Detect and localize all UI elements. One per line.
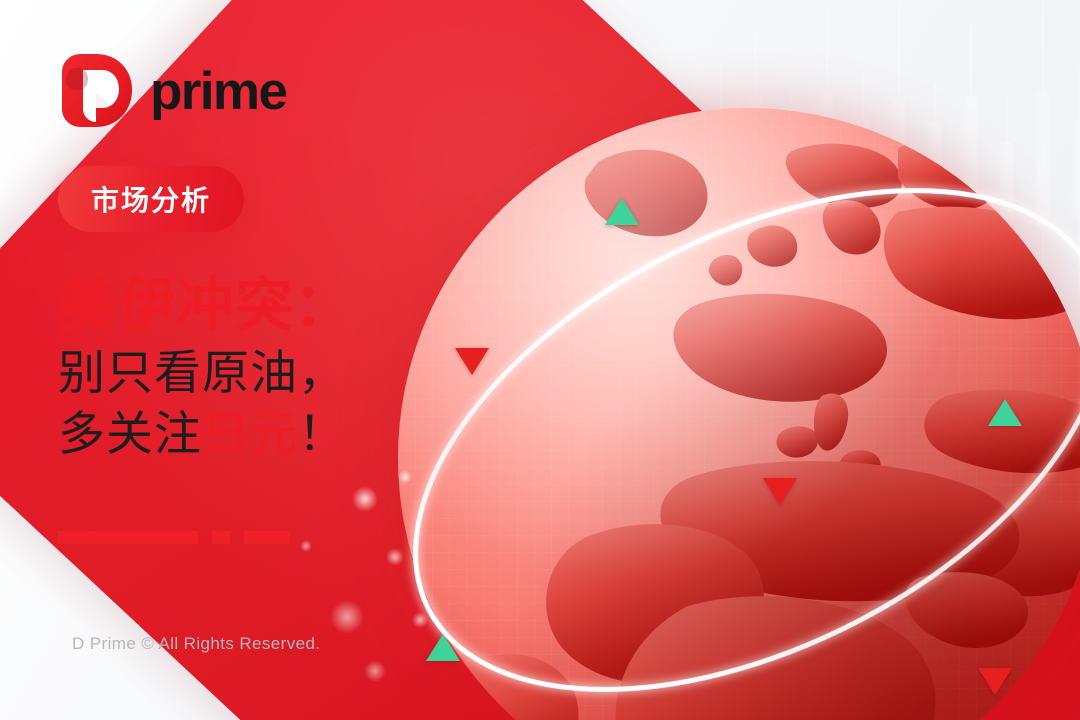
divider-segment-short [244, 531, 290, 544]
world-globe [398, 108, 1080, 720]
headline-line-1: 美伊冲突： [58, 272, 448, 340]
category-badge[interactable]: 市场分析 [58, 166, 244, 232]
headline-line-3: 多关注日元！ [58, 407, 448, 462]
copyright-text: D Prime © All Rights Reserved. [72, 634, 320, 654]
market-up-marker-2 [988, 399, 1022, 426]
headline-line-2: 别只看原油， [58, 346, 448, 401]
d-prime-logo-mark [56, 52, 134, 130]
logo-wordmark: prime [150, 65, 286, 118]
globe-landmass [398, 108, 1080, 720]
divider-segment-long [58, 531, 198, 544]
market-down-marker-2 [763, 478, 797, 505]
headline-line-3-prefix: 多关注 [58, 407, 202, 460]
market-up-marker-1 [605, 198, 639, 225]
divider-segment-dot [212, 531, 230, 544]
decorative-divider [58, 531, 290, 544]
logo-d-icon [56, 52, 134, 130]
headline-block: 美伊冲突： 别只看原油， 多关注日元！ [58, 272, 448, 462]
headline-line-3-suffix: ！ [298, 407, 346, 460]
market-down-marker-3 [978, 668, 1012, 695]
market-analysis-banner: prime 市场分析 美伊冲突： 别只看原油， 多关注日元！ D Prime ©… [0, 0, 1080, 720]
content-column: prime 市场分析 美伊冲突： 别只看原油， 多关注日元！ D Prime ©… [56, 0, 456, 720]
market-down-marker-1 [455, 348, 489, 375]
brand-logo[interactable]: prime [56, 52, 286, 130]
headline-line-3-accent: 日元 [202, 407, 298, 460]
